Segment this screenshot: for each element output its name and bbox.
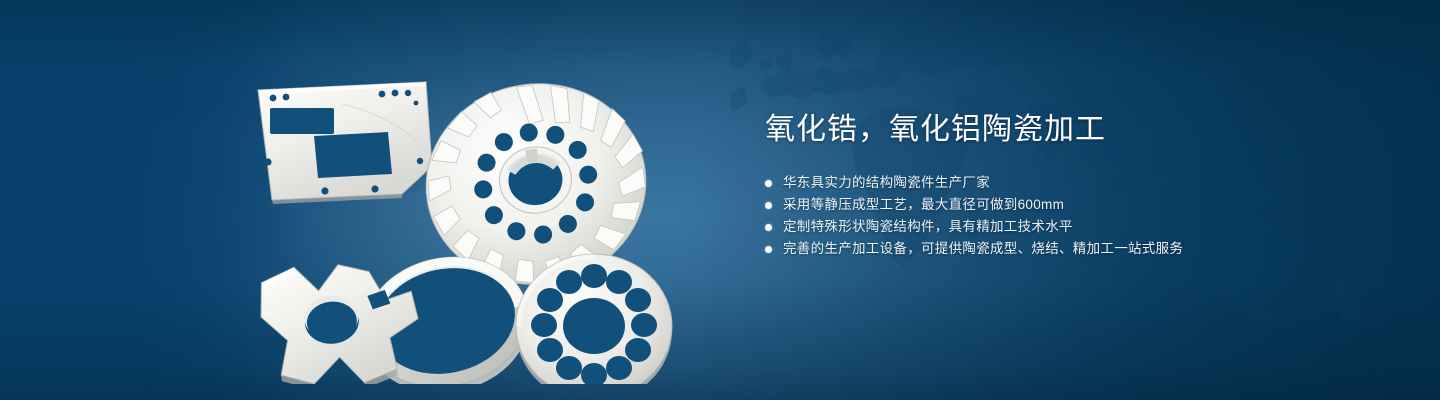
page-title: 氧化锆，氧化铝陶瓷加工: [765, 110, 1385, 150]
product-image-ceramic-parts: [236, 34, 686, 384]
feature-text: 华东具实力的结构陶瓷件生产厂家: [783, 172, 990, 194]
banner-text-block: 氧化锆，氧化铝陶瓷加工 华东具实力的结构陶瓷件生产厂家 采用等静压成型工艺，最大…: [765, 110, 1385, 260]
bullet-dot-icon: [765, 224, 772, 231]
feature-text: 完善的生产加工设备，可提供陶瓷成型、烧结、精加工一站式服务: [783, 238, 1183, 260]
list-item: 定制特殊形状陶瓷结构件，具有精加工技术水平: [765, 216, 1385, 238]
feature-text: 采用等静压成型工艺，最大直径可做到600mm: [783, 194, 1064, 216]
bullet-dot-icon: [765, 202, 772, 209]
feature-text: 定制特殊形状陶瓷结构件，具有精加工技术水平: [783, 216, 1073, 238]
part-flat-plate: [258, 82, 432, 204]
bullet-dot-icon: [765, 246, 772, 253]
feature-list: 华东具实力的结构陶瓷件生产厂家 采用等静压成型工艺，最大直径可做到600mm 定…: [765, 172, 1385, 260]
bullet-dot-icon: [765, 180, 772, 187]
list-item: 华东具实力的结构陶瓷件生产厂家: [765, 172, 1385, 194]
list-item: 完善的生产加工设备，可提供陶瓷成型、烧结、精加工一站式服务: [765, 238, 1385, 260]
hero-banner: 氧化锆，氧化铝陶瓷加工 华东具实力的结构陶瓷件生产厂家 采用等静压成型工艺，最大…: [0, 0, 1440, 400]
list-item: 采用等静压成型工艺，最大直径可做到600mm: [765, 194, 1385, 216]
